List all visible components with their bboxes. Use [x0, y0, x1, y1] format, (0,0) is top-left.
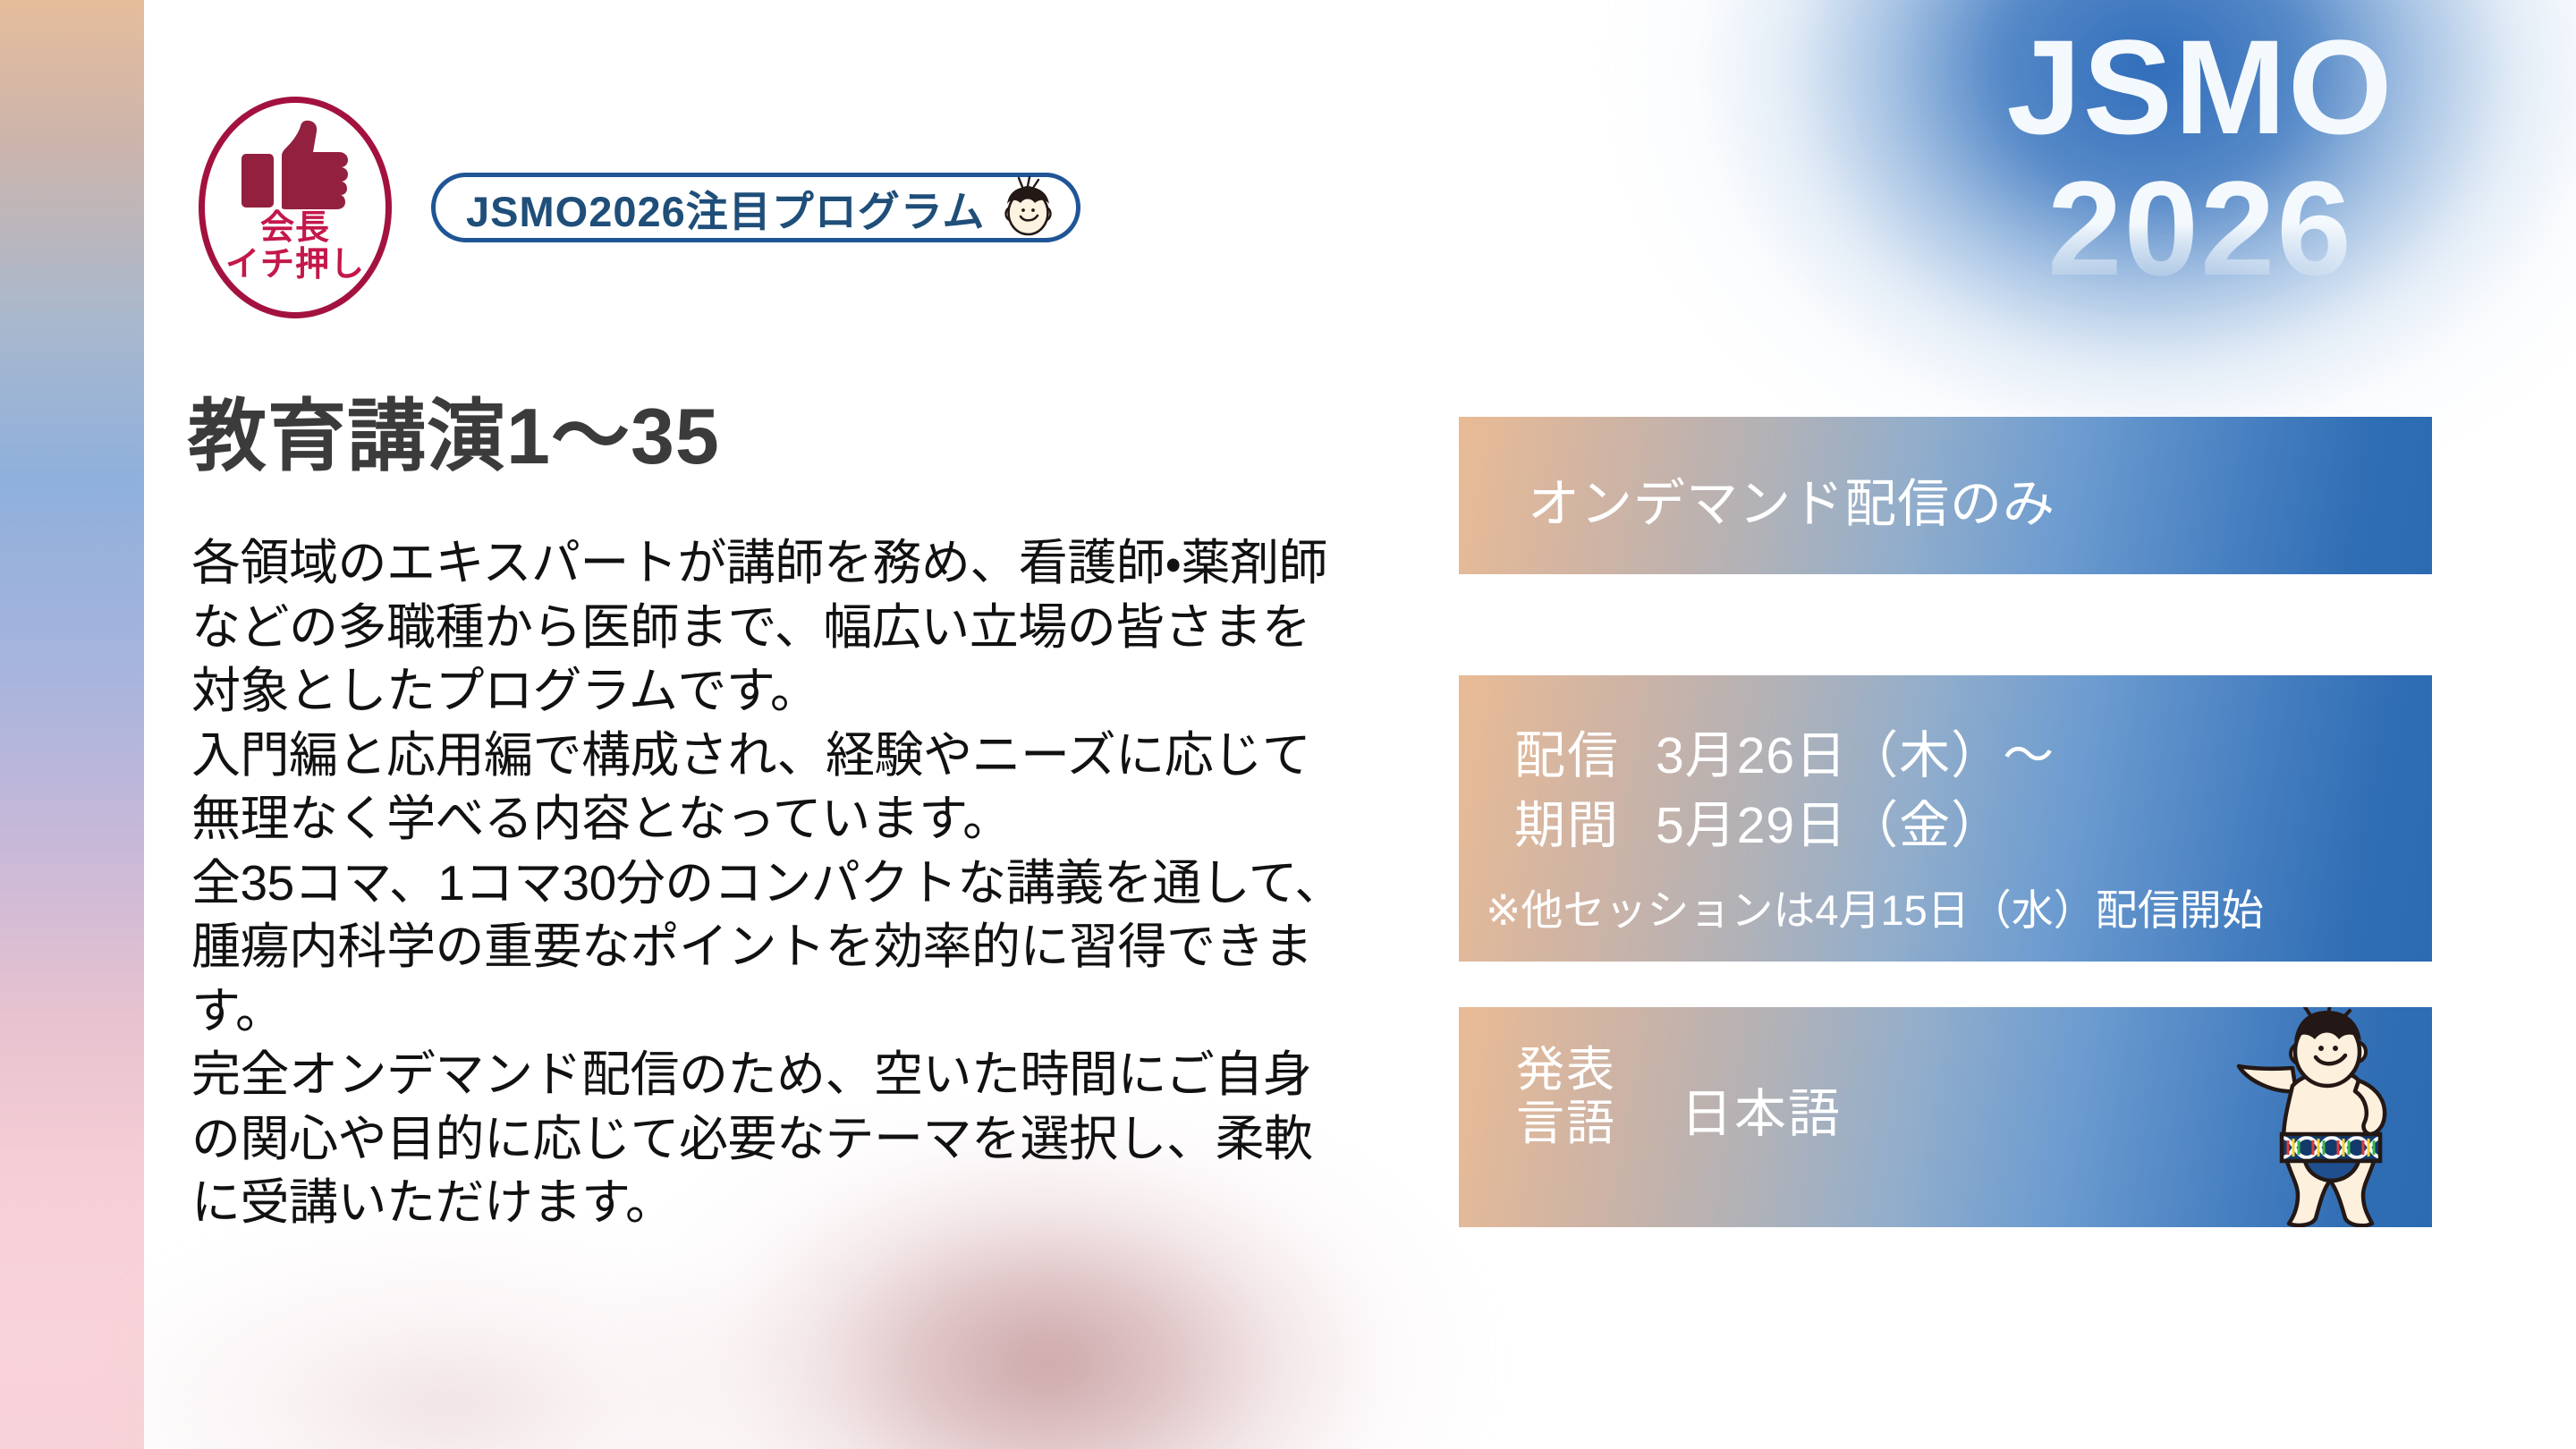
schedule-row-start: 配信 3月26日（木）〜	[1514, 715, 2055, 788]
lecture-description: 各領域のエキスパートが講師を務め、看護師・薬剤師などの多職種から医師まで、幅広い…	[191, 531, 1345, 1235]
delivery-mode-text: オンデマンド配信のみ	[1528, 462, 2055, 537]
lecture-paragraph: 入門編と応用編で構成され、経験やニーズに応じて無理なく学べる内容となっています。	[191, 724, 1345, 852]
language-label-line2: 言語	[1516, 1097, 1616, 1150]
language-label-line1: 発表	[1516, 1043, 1616, 1097]
seal-text: 会長 イチ押し	[199, 210, 392, 284]
president-recommendation-seal: 会長 イチ押し	[199, 97, 392, 318]
lecture-paragraph: 全35コマ、1コマ30分のコンパクトな講義を通して、腫瘍内科学の重要なポイントを…	[191, 852, 1345, 1044]
jsmo-logo-line1: JSMO	[1878, 25, 2522, 150]
schedule-row-end: 期間 5月29日（金）	[1514, 784, 2003, 858]
sumo-face-icon	[996, 176, 1063, 239]
thumbs-up-icon	[240, 120, 351, 213]
jsmo-logo-line2: 2026	[1878, 166, 2522, 292]
lecture-title: 教育講演1〜35	[188, 373, 720, 487]
lecture-paragraph: 各領域のエキスパートが講師を務め、看護師・薬剤師などの多職種から医師まで、幅広い…	[191, 531, 1345, 724]
lecture-paragraph: 完全オンデマンド配信のため、空いた時間にご自身の関心や目的に応じて必要なテーマを…	[191, 1043, 1345, 1235]
left-gradient-strip	[0, 0, 144, 1449]
seal-text-line2: イチ押し	[199, 247, 392, 284]
pink-gradient-blob-secondary	[125, 1216, 930, 1449]
schedule-start-label: 配信	[1514, 715, 1620, 788]
schedule-end-value: 5月29日（金）	[1656, 784, 2003, 858]
delivery-mode-panel: オンデマンド配信のみ	[1459, 417, 2432, 574]
language-value: 日本語	[1681, 1072, 1842, 1147]
slide-canvas: JSMO 2026 会長 イチ押し JSMO2026注目プログラム	[0, 0, 2576, 1449]
schedule-note: ※他セッションは4月15日（水）配信開始	[1486, 876, 2264, 937]
sumo-wrestler-icon	[2223, 1007, 2432, 1227]
jsmo-logo: JSMO 2026	[1878, 25, 2522, 410]
schedule-panel: 配信 3月26日（木）〜 期間 5月29日（金） ※他セッションは4月15日（水…	[1459, 675, 2432, 962]
language-label: 発表 言語	[1516, 1043, 1616, 1151]
header-row: 会長 イチ押し JSMO2026注目プログラム	[199, 97, 1080, 318]
schedule-start-value: 3月26日（木）〜	[1656, 715, 2055, 788]
program-badge-pill[interactable]: JSMO2026注目プログラム	[431, 173, 1080, 242]
language-panel: 発表 言語 日本語	[1459, 1007, 2432, 1227]
seal-text-line1: 会長	[199, 210, 392, 247]
schedule-end-label: 期間	[1514, 784, 1620, 858]
program-badge-label: JSMO2026注目プログラム	[466, 177, 985, 239]
